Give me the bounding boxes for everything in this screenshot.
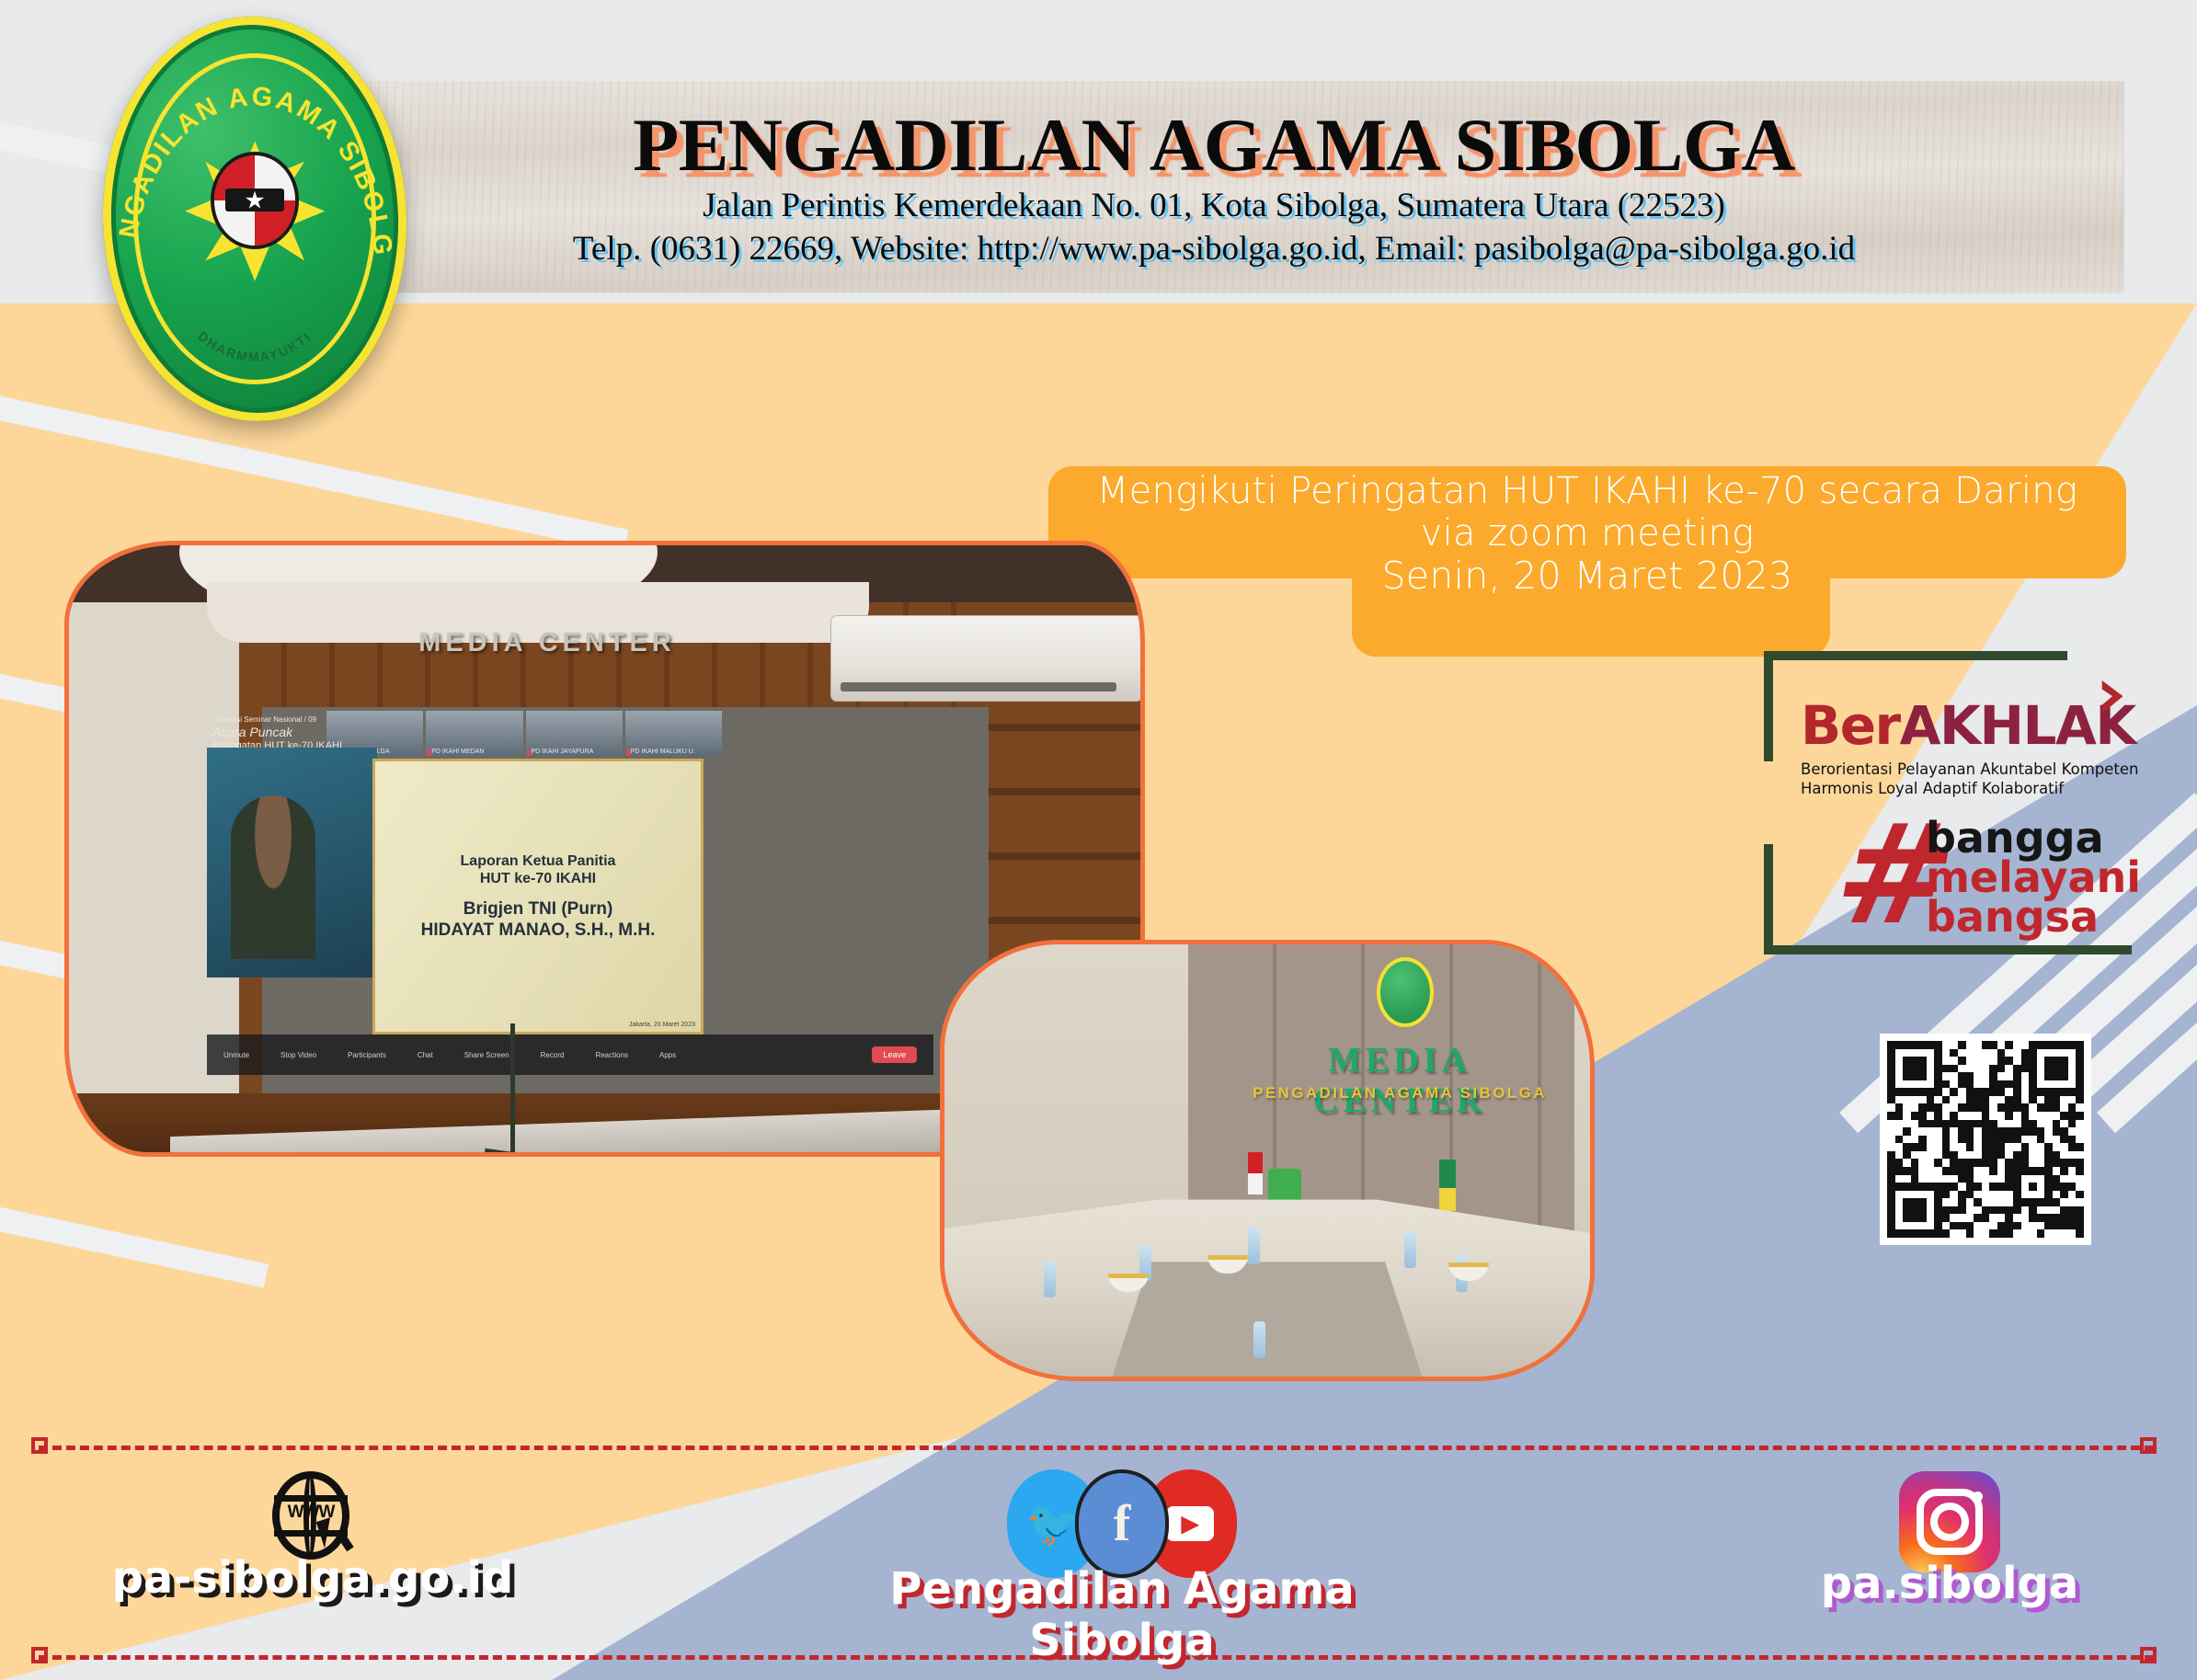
camera-tripod [510, 1023, 515, 1157]
zoom-header-script: Acara Puncak [212, 725, 606, 740]
divider-corner-marker [31, 1647, 48, 1663]
divider-corner-marker [2140, 1647, 2157, 1663]
frame-corner [1764, 651, 1773, 761]
table-plant [1268, 1169, 1301, 1204]
zoom-btn-record: Record [541, 1051, 565, 1059]
berakhlak-block: BerAKHLAK Berorientasi Pelayanan Akuntab… [1764, 651, 2150, 954]
tagline-3: bangsa [1926, 897, 2141, 937]
zoom-btn-participants: Participants [348, 1051, 386, 1059]
slide-footer: Jakarta, 20 Maret 2023 [629, 1022, 695, 1028]
chevron-right-icon [2097, 679, 2132, 717]
page-title: PENGADILAN AGAMA SIBOLGA [633, 108, 1795, 183]
berakhlak-wordmark: BerAKHLAK [1801, 699, 2143, 752]
wall-sign-sub: PENGADILAN AGAMA SIBOLGA [1248, 1084, 1551, 1103]
website-label: pa-sibolga.go.id [83, 1552, 543, 1604]
frame-corner [1764, 651, 2067, 660]
caption-line-1: Mengikuti Peringatan HUT IKAHI ke-70 sec… [1097, 470, 2077, 512]
berakhlak-prefix: Ber [1801, 694, 1900, 757]
zoom-btn-stop-video: Stop Video [280, 1051, 316, 1059]
photo-meeting-room-attendees: MEDIA CENTER PENGADILAN AGAMA SIBOLGA [940, 940, 1595, 1381]
svg-text:DHARMMAYUKTI: DHARMMAYUKTI [195, 328, 314, 364]
slide-line-4: HIDAYAT MANAO, S.H., M.H. [421, 920, 656, 942]
divider-corner-marker [31, 1437, 48, 1454]
zoom-toolbar: Unmute Stop Video Participants Chat Shar… [207, 1034, 933, 1075]
footer-website[interactable]: WWW pa-sibolga.go.id [83, 1471, 543, 1604]
flyer-canvas: PENGADILAN AGAMA SIBOLGA Jalan Perintis … [0, 0, 2197, 1680]
zoom-btn-chat: Chat [418, 1051, 433, 1059]
slide-line-2: HUT ke-70 IKAHI [480, 870, 596, 887]
indonesia-flag [1248, 1152, 1263, 1194]
berakhlak-values-line-1: Berorientasi Pelayanan Akuntabel Kompete… [1801, 760, 2150, 779]
zoom-btn-reactions: Reactions [595, 1051, 628, 1059]
presentation-slide: Laporan Ketua Panitia HUT ke-70 IKAHI Br… [372, 759, 704, 1034]
air-conditioner [830, 615, 1143, 702]
zoom-speaker-tile [207, 748, 377, 977]
zoom-header-small: Orientasi Seminar Nasional / 09 [212, 715, 606, 725]
room-sign-label: MEDIA CENTER [382, 628, 713, 658]
wall-court-logo [1377, 957, 1434, 1027]
hashtag-icon: # [1827, 822, 1931, 932]
zoom-btn-share-screen: Share Screen [464, 1051, 509, 1059]
zoom-thumbnail: PD IKAHI MALUKU U. [625, 711, 722, 757]
header-address: Jalan Perintis Kemerdekaan No. 01, Kota … [703, 185, 1725, 226]
zoom-btn-unmute: Unmute [223, 1051, 249, 1059]
footer-social[interactable]: 🐦 f ▶ Pengadilan Agama Sibolga [800, 1471, 1444, 1666]
zoom-thumb-label: PD IKAHI MALUKU U. [631, 749, 695, 755]
frame-corner [1764, 945, 2132, 954]
wall-sign-main: MEDIA CENTER [1248, 1040, 1551, 1121]
divider-corner-marker [2140, 1437, 2157, 1454]
zoom-slide-header: Orientasi Seminar Nasional / 09 Acara Pu… [207, 713, 612, 751]
court-logo: PENGADILAN AGAMA SIBOLGA DHARMMAYUKTI [103, 17, 406, 421]
caption-text: Mengikuti Peringatan HUT IKAHI ke-70 sec… [1048, 471, 2126, 598]
social-label: Pengadilan Agama Sibolga [800, 1563, 1444, 1666]
qr-code[interactable] [1880, 1034, 2091, 1245]
zoom-btn-apps: Apps [659, 1051, 676, 1059]
footer-divider-top [39, 1446, 2154, 1450]
logo-shield-icon: ★ [211, 152, 299, 249]
facebook-icon[interactable]: f [1075, 1469, 1169, 1578]
berakhlak-values: Berorientasi Pelayanan Akuntabel Kompete… [1801, 760, 2150, 798]
slide-line-3: Brigjen TNI (Purn) [463, 899, 613, 920]
caption-line-3: Senin, 20 Maret 2023 [1048, 554, 2126, 598]
footer-instagram[interactable]: pa.sibolga [1738, 1471, 2161, 1609]
header-contact: Telp. (0631) 22669, Website: http://www.… [573, 228, 1855, 269]
court-flag [1439, 1160, 1456, 1211]
instagram-label: pa.sibolga [1738, 1558, 2161, 1609]
frame-corner [1764, 844, 1773, 954]
slide-line-1: Laporan Ketua Panitia [461, 852, 616, 870]
bangga-melayani-lockup: # bangga melayani bangsa [1837, 815, 2113, 943]
zoom-btn-leave: Leave [872, 1046, 917, 1063]
header-text-block: PENGADILAN AGAMA SIBOLGA Jalan Perintis … [313, 83, 2115, 294]
caption-line-2: via zoom meeting [1048, 513, 2126, 555]
